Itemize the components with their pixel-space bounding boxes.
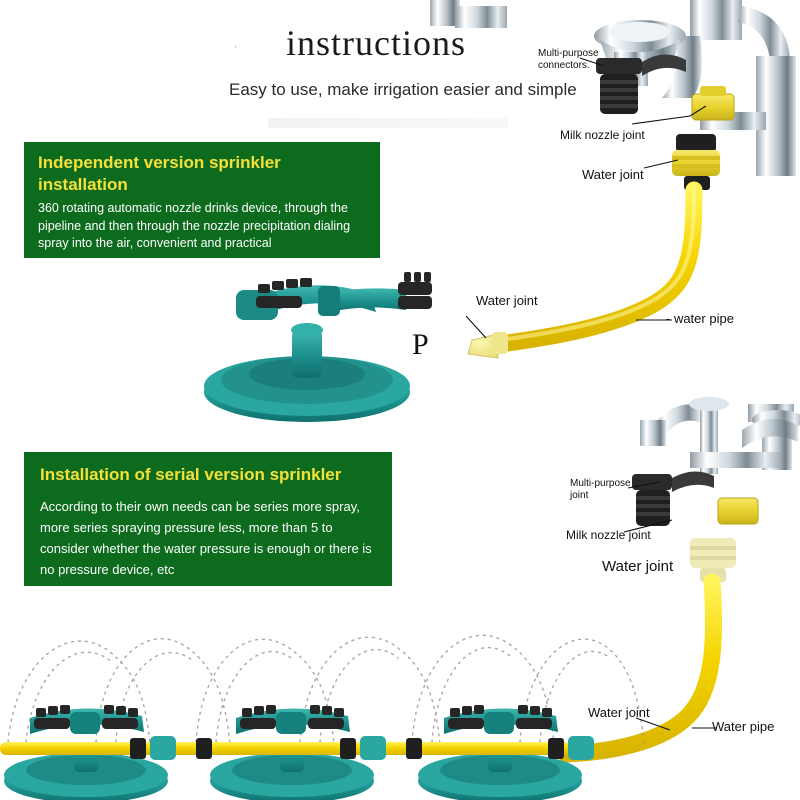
label-water-joint-mid: Water joint [476, 294, 538, 308]
multi-purpose-connector-top [596, 54, 686, 114]
panel-serial-body: According to their own needs can be seri… [40, 496, 378, 580]
callout-leaders [466, 58, 716, 730]
multi-purpose-connector-bottom [632, 471, 714, 526]
page-canvas: ˙ instructions Easy to use, make irrigat… [0, 0, 800, 800]
label-water-pipe-top: - water pipe [666, 312, 734, 326]
label-milk-nozzle-joint-bottom: Milk nozzle joint [566, 528, 651, 542]
panel-independent-body: 360 rotating automatic nozzle drinks dev… [38, 200, 368, 253]
page-title: instructions [286, 22, 466, 64]
label-multi-purpose-connectors-top: Multi-purpose connectors. [538, 48, 599, 72]
decorative-divider [268, 118, 508, 128]
label-water-joint-series: Water joint [588, 706, 650, 720]
sprinkler-series-1 [4, 705, 168, 800]
label-water-pipe-series: Water pipe [712, 720, 774, 734]
sprinkler-series-2 [210, 705, 374, 800]
panel-serial-title: Installation of serial version sprinkler [40, 464, 378, 486]
hose-tip-top [468, 332, 508, 358]
label-water-joint-bottom: Water joint [602, 560, 673, 574]
panel-independent-title: Independent version sprinkler installati… [38, 152, 368, 196]
water-joint-bottom [690, 498, 758, 582]
faucet-cluster-bottom [632, 397, 800, 582]
label-water-joint-top: Water joint [582, 168, 644, 182]
title-mark: ˙ [234, 44, 238, 59]
label-letter-p: P [412, 328, 429, 362]
hose-top [500, 190, 694, 344]
label-milk-nozzle-joint-top: Milk nozzle joint [560, 128, 645, 142]
panel-independent-version: Independent version sprinkler installati… [24, 142, 380, 258]
label-multi-purpose-joint-bottom: Multi-purpose joint [570, 478, 631, 502]
page-subtitle: Easy to use, make irrigation easier and … [229, 80, 577, 100]
sprinkler-series-3 [418, 705, 582, 800]
spray-arcs [8, 635, 644, 744]
hose-bottom [566, 582, 714, 754]
panel-serial-version: Installation of serial version sprinkler… [24, 452, 392, 586]
water-joint-top [672, 86, 734, 190]
series-connecting-pipe [0, 736, 594, 760]
